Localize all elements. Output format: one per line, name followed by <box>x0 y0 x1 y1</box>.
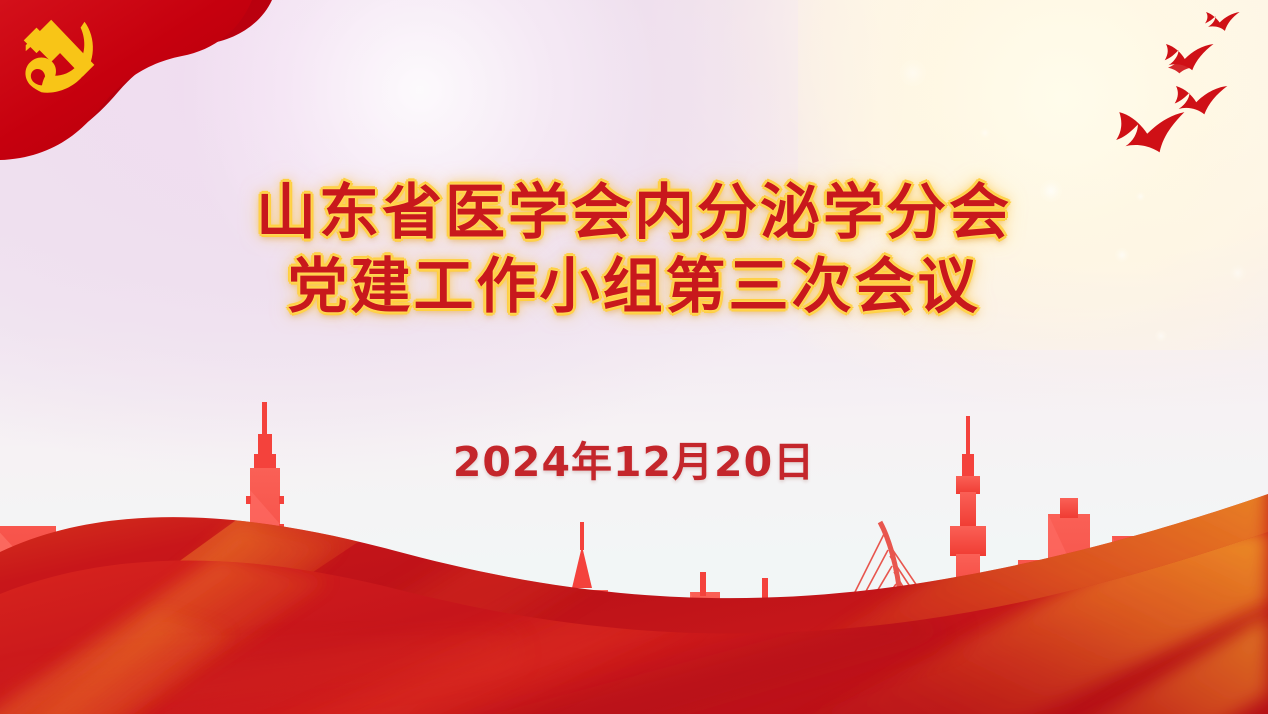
flying-birds-group <box>1048 8 1268 158</box>
poster-canvas: 山东省医学会内分泌学分会 党建工作小组第三次会议 2024年12月20日 <box>0 0 1268 714</box>
bokeh-dot <box>900 60 926 86</box>
bird-icon <box>1205 12 1240 31</box>
flag-body <box>0 0 252 160</box>
meeting-date: 2024年12月20日 <box>0 428 1268 488</box>
title-line-1: 山东省医学会内分泌学分会 <box>0 176 1268 250</box>
bokeh-dot <box>1155 330 1167 342</box>
party-flag <box>0 0 300 200</box>
bird-icon <box>1175 86 1228 114</box>
bird-icon <box>1116 112 1184 152</box>
poster-title: 山东省医学会内分泌学分会 党建工作小组第三次会议 <box>0 176 1268 324</box>
bokeh-dot <box>980 128 990 138</box>
title-line-2: 党建工作小组第三次会议 <box>0 250 1268 324</box>
